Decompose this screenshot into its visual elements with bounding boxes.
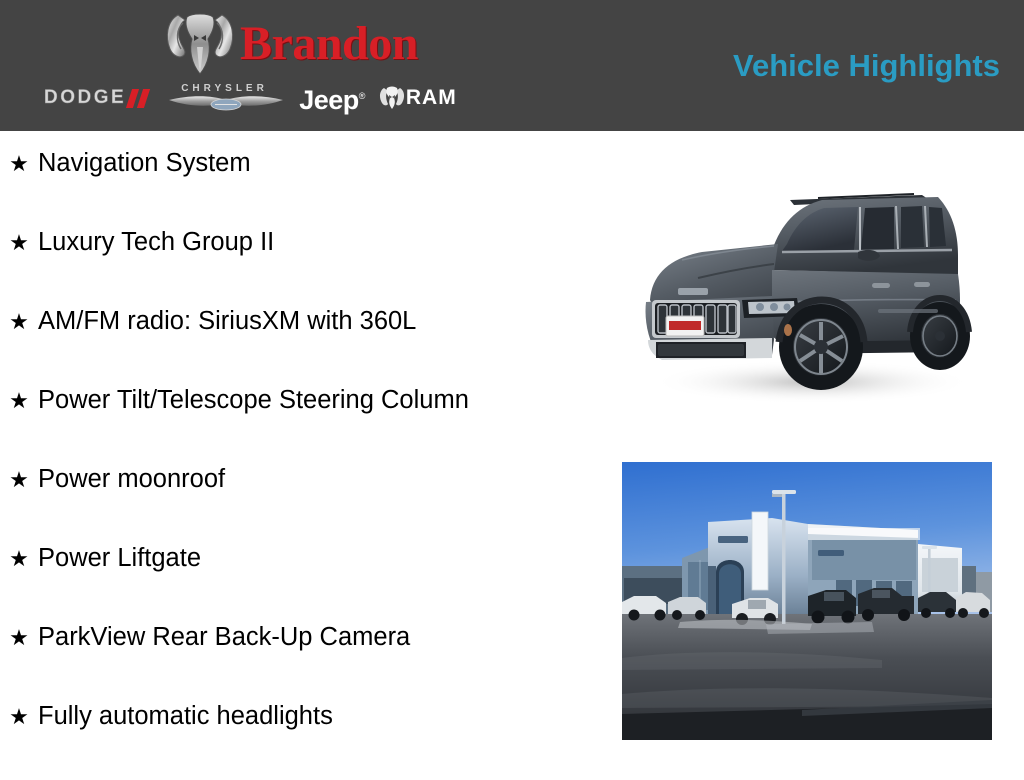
list-item-label: Navigation System: [38, 148, 251, 178]
dodge-logo-label: DODGE: [44, 87, 126, 109]
vehicle-highlights-slide: Brandon DODGE CHRYSLER: [0, 0, 1024, 768]
ram-head-small-icon: [379, 86, 405, 110]
list-item: ★ AM/FM radio: SiriusXM with 360L: [0, 306, 600, 385]
dodge-logo: DODGE: [44, 87, 153, 109]
jeep-logo-label: Jeep: [299, 85, 359, 115]
dealer-primary-logo: Brandon: [164, 10, 418, 78]
list-item: ★ ParkView Rear Back-Up Camera: [0, 622, 600, 701]
vehicle-highlights-list: ★ Navigation System ★ Luxury Tech Group …: [0, 148, 600, 780]
list-item-label: Fully automatic headlights: [38, 701, 333, 731]
ram-logo: RAM: [379, 86, 457, 110]
list-item-label: AM/FM radio: SiriusXM with 360L: [38, 306, 416, 336]
list-item: ★ Fully automatic headlights: [0, 701, 600, 780]
list-item: ★ Power Liftgate: [0, 543, 600, 622]
list-item-label: Power Tilt/Telescope Steering Column: [38, 385, 469, 415]
star-bullet-icon: ★: [0, 149, 38, 179]
list-item-label: Power moonroof: [38, 464, 225, 494]
chrysler-logo: CHRYSLER: [167, 83, 285, 113]
dealership-photo-graphic: [622, 462, 992, 740]
list-item: ★ Power Tilt/Telescope Steering Column: [0, 385, 600, 464]
star-bullet-icon: ★: [0, 544, 38, 574]
star-bullet-icon: ★: [0, 307, 38, 337]
vehicle-photo-graphic: [622, 150, 992, 427]
header-bar: Brandon DODGE CHRYSLER: [0, 0, 1024, 131]
jeep-trademark: ®: [359, 91, 365, 101]
star-bullet-icon: ★: [0, 228, 38, 258]
dealer-logo-block: Brandon DODGE CHRYSLER: [44, 8, 534, 120]
star-bullet-icon: ★: [0, 702, 38, 732]
list-item: ★ Navigation System: [0, 148, 600, 227]
ram-head-icon: [164, 11, 236, 77]
star-bullet-icon: ★: [0, 623, 38, 653]
list-item: ★ Luxury Tech Group II: [0, 227, 600, 306]
jeep-logo: Jeep®: [299, 83, 365, 114]
page-title: Vehicle Highlights: [733, 48, 1000, 84]
star-bullet-icon: ★: [0, 465, 38, 495]
dealer-name: Brandon: [240, 20, 418, 68]
vehicle-photo: [622, 150, 992, 427]
brand-logo-strip: DODGE CHRYSLER: [44, 80, 534, 116]
dodge-stripes-icon: [126, 89, 156, 108]
ram-logo-label: RAM: [406, 86, 457, 110]
list-item-label: Power Liftgate: [38, 543, 201, 573]
chrysler-wings-icon: [167, 95, 285, 112]
list-item: ★ Power moonroof: [0, 464, 600, 543]
dealership-photo: [622, 462, 992, 740]
list-item-label: Luxury Tech Group II: [38, 227, 274, 257]
list-item-label: ParkView Rear Back-Up Camera: [38, 622, 410, 652]
chrysler-logo-label: CHRYSLER: [181, 83, 268, 94]
star-bullet-icon: ★: [0, 386, 38, 416]
